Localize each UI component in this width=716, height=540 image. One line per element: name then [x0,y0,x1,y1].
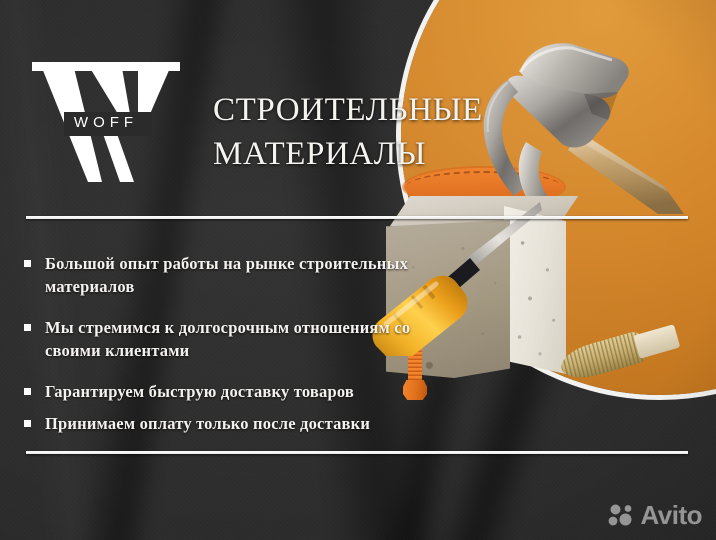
brand-wordmark: WOFF [30,114,182,131]
list-item-label: Большой опыт работы на рынке строительны… [45,252,454,299]
list-item: Большой опыт работы на рынке строительны… [24,252,454,299]
square-bullet-icon [24,420,31,427]
list-item: Принимаем оплату только после доставки [24,412,454,435]
headline-line-2: МАТЕРИАЛЫ [213,132,543,176]
page-title: СТРОИТЕЛЬНЫЕ МАТЕРИАЛЫ [213,88,543,176]
top-rule [26,216,688,219]
square-bullet-icon [24,324,31,331]
avito-dots-icon [608,504,634,526]
headline-line-1: СТРОИТЕЛЬНЫЕ [213,88,543,132]
square-bullet-icon [24,260,31,267]
bottom-rule [26,451,688,454]
list-item: Мы стремимся к долгосрочным отношениям с… [24,316,454,363]
advert-poster: WOFF СТРОИТЕЛЬНЫЕ МАТЕРИАЛЫ Большой опыт… [0,0,716,540]
list-item-label: Мы стремимся к долгосрочным отношениям с… [45,316,454,363]
poster-content: WOFF СТРОИТЕЛЬНЫЕ МАТЕРИАЛЫ Большой опыт… [0,0,716,540]
list-item-label: Гарантируем быструю доставку товаров [45,380,354,403]
brand-logo: WOFF [30,56,182,188]
list-item: Гарантируем быструю доставку товаров [24,380,454,403]
avito-watermark: Avito [608,502,702,528]
list-item-label: Принимаем оплату только после доставки [45,412,370,435]
avito-wordmark: Avito [640,502,702,528]
square-bullet-icon [24,388,31,395]
benefits-list: Большой опыт работы на рынке строительны… [24,252,454,436]
